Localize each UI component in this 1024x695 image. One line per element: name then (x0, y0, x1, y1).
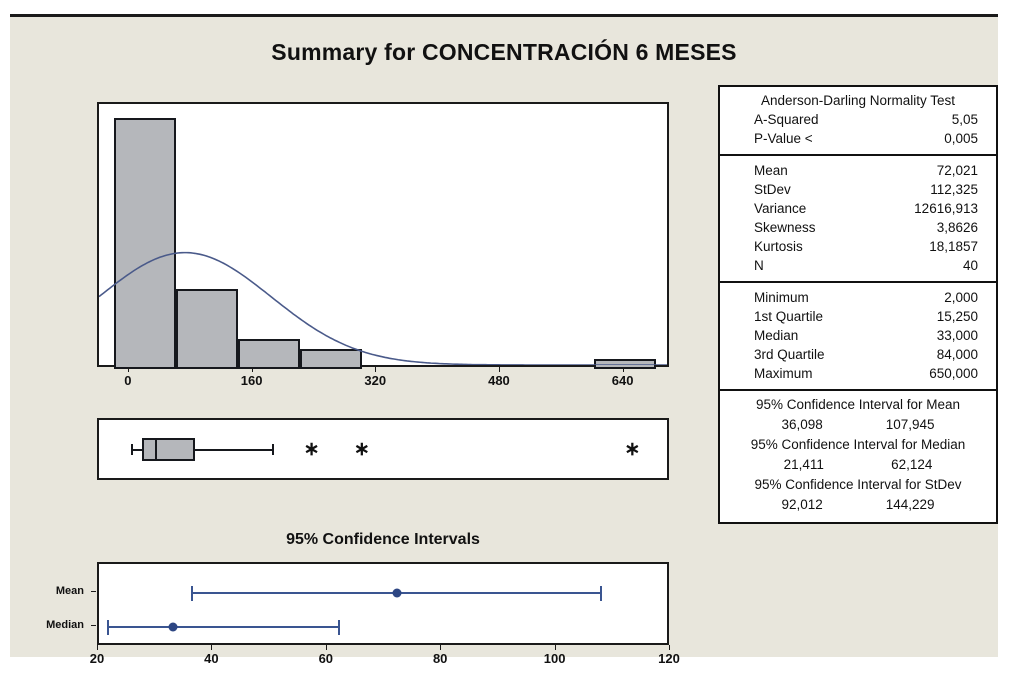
ci-upper-cap (600, 586, 602, 601)
axis-tick (440, 645, 441, 650)
stat-value: 84,000 (937, 346, 978, 364)
stat-value: 12616,913 (914, 200, 978, 218)
ci-interval-line (107, 626, 340, 628)
axis-tick (128, 367, 129, 372)
stat-value: 0,005 (944, 130, 978, 148)
moments-section: Mean 72,021 StDev 112,325 Variance 12616… (720, 156, 996, 283)
ci-mean-header: 95% Confidence Interval for Mean (720, 396, 996, 414)
boxplot-upper-cap (272, 444, 274, 455)
histogram-plot (99, 104, 667, 365)
boxplot-upper-whisker (195, 449, 275, 451)
histogram-panel (97, 102, 669, 367)
statistics-panel: Anderson-Darling Normality Test A-Square… (718, 85, 998, 524)
ci-row-tick (91, 625, 96, 626)
stat-value: 5,05 (952, 111, 978, 129)
ci-upper-cap (338, 620, 340, 635)
normality-test-header: Anderson-Darling Normality Test (720, 92, 996, 110)
table-row: Skewness 3,8626 (720, 218, 996, 237)
axis-tick (375, 367, 376, 372)
table-row: 1st Quartile 15,250 (720, 307, 996, 326)
ci-row-label: Median (10, 619, 84, 631)
stat-label: StDev (754, 181, 791, 199)
axis-tick-label: 320 (364, 373, 386, 388)
table-row: 3rd Quartile 84,000 (720, 345, 996, 364)
axis-tick (211, 645, 212, 650)
quantiles-section: Minimum 2,000 1st Quartile 15,250 Median… (720, 283, 996, 391)
ci-point-estimate (392, 589, 401, 598)
axis-tick-label: 100 (544, 651, 566, 666)
axis-tick (252, 367, 253, 372)
boxplot-lower-cap (131, 444, 133, 455)
histogram-bar (300, 349, 362, 369)
axis-tick (326, 645, 327, 650)
boxplot-median-line (155, 438, 157, 461)
graph-canvas: Summary for CONCENTRACIÓN 6 MESES 016032… (10, 14, 998, 657)
ci-lower-cap (107, 620, 109, 635)
boxplot-panel: ∗∗∗ (97, 418, 669, 480)
axis-tick-label: 40 (204, 651, 218, 666)
ci-lower-cap (191, 586, 193, 601)
table-row: Variance 12616,913 (720, 199, 996, 218)
table-row: Median 33,000 (720, 326, 996, 345)
stat-value: 33,000 (937, 327, 978, 345)
ci-stdev-header: 95% Confidence Interval for StDev (720, 476, 996, 494)
stat-value: 40 (963, 257, 978, 275)
boxplot-outlier: ∗ (304, 440, 320, 459)
axis-tick (669, 645, 670, 650)
stat-value: 112,325 (930, 181, 978, 199)
axis-tick (499, 367, 500, 372)
axis-tick-label: 60 (319, 651, 333, 666)
stat-value: 650,000 (929, 365, 978, 383)
ci-lower: 92,012 (781, 495, 822, 514)
table-row: Kurtosis 18,1857 (720, 237, 996, 256)
ci-mean-values: 36,098 107,945 (720, 414, 996, 436)
axis-tick (97, 645, 98, 650)
boxplot-outlier: ∗ (354, 440, 370, 459)
axis-tick-label: 120 (658, 651, 680, 666)
stat-label: N (754, 257, 764, 275)
boxplot-graphic: ∗∗∗ (99, 420, 667, 478)
ci-point-estimate (169, 623, 178, 632)
confidence-intervals-section: 95% Confidence Interval for Mean 36,098 … (720, 391, 996, 522)
stat-label: Minimum (754, 289, 809, 307)
stat-value: 72,021 (937, 162, 978, 180)
axis-tick (623, 367, 624, 372)
ci-median-header: 95% Confidence Interval for Median (720, 436, 996, 454)
stat-label: Maximum (754, 365, 813, 383)
axis-tick-label: 160 (241, 373, 263, 388)
ci-plot-title: 95% Confidence Intervals (97, 531, 669, 549)
ci-plot-graphic (99, 564, 667, 643)
histogram-x-axis: 0160320480640 (97, 367, 669, 397)
ci-lower: 21,411 (784, 455, 824, 474)
boxplot-box (142, 438, 195, 461)
histogram-bar (176, 289, 238, 369)
ci-upper: 144,229 (886, 495, 935, 514)
ci-lower: 36,098 (781, 415, 822, 434)
stat-label: Median (754, 327, 798, 345)
stat-value: 18,1857 (929, 238, 978, 256)
stat-label: Variance (754, 200, 806, 218)
graphical-summary-window: Summary for CONCENTRACIÓN 6 MESES 016032… (0, 0, 1024, 695)
page-title: Summary for CONCENTRACIÓN 6 MESES (10, 39, 998, 66)
histogram-bar (238, 339, 300, 369)
stat-label: Skewness (754, 219, 816, 237)
stat-label: A-Squared (754, 111, 819, 129)
stat-value: 3,8626 (937, 219, 978, 237)
stat-label: Mean (754, 162, 788, 180)
stat-label: 3rd Quartile (754, 346, 825, 364)
ci-upper: 62,124 (891, 455, 932, 474)
table-row: A-Squared 5,05 (720, 110, 996, 129)
stat-label: P-Value < (754, 130, 813, 148)
ci-x-axis: 20406080100120 (97, 645, 669, 673)
stat-label: 1st Quartile (754, 308, 823, 326)
table-row: StDev 112,325 (720, 180, 996, 199)
stat-label: Kurtosis (754, 238, 803, 256)
axis-tick (555, 645, 556, 650)
axis-tick-label: 20 (90, 651, 104, 666)
axis-tick-label: 640 (612, 373, 634, 388)
stat-value: 2,000 (944, 289, 978, 307)
ci-median-values: 21,411 62,124 (720, 454, 996, 476)
stat-value: 15,250 (937, 308, 978, 326)
table-row: N 40 (720, 256, 996, 275)
ci-upper: 107,945 (886, 415, 935, 434)
boxplot-outlier: ∗ (624, 440, 640, 459)
ci-row-tick (91, 591, 96, 592)
normality-test-section: Anderson-Darling Normality Test A-Square… (720, 87, 996, 156)
table-row: P-Value < 0,005 (720, 129, 996, 148)
axis-tick-label: 80 (433, 651, 447, 666)
histogram-bar (114, 118, 176, 369)
table-row: Mean 72,021 (720, 161, 996, 180)
axis-tick-label: 0 (124, 373, 131, 388)
ci-plot-panel (97, 562, 669, 645)
axis-tick-label: 480 (488, 373, 510, 388)
table-row: Minimum 2,000 (720, 288, 996, 307)
table-row: Maximum 650,000 (720, 364, 996, 383)
ci-row-label: Mean (10, 585, 84, 597)
ci-stdev-values: 92,012 144,229 (720, 494, 996, 516)
